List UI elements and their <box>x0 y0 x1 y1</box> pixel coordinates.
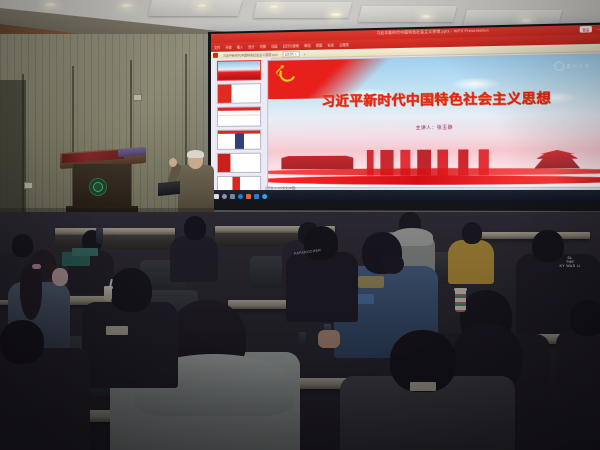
ribbon-item[interactable]: 审阅 <box>304 43 311 48</box>
podium-emblem-icon <box>89 178 107 196</box>
hair-tie <box>32 264 41 269</box>
paper-sheet[interactable] <box>410 382 436 391</box>
person-torso <box>82 302 178 388</box>
red-ribbon-band <box>267 175 600 185</box>
slide-thumbnail[interactable]: 6 <box>217 176 261 190</box>
person-head <box>570 300 600 336</box>
person-torso <box>448 240 494 284</box>
slide-thumbnail[interactable]: 5 <box>217 153 261 173</box>
lecturer-hand <box>169 158 177 167</box>
apparel-text-hoodie: SL THE KY WAS LI <box>540 256 600 268</box>
ponytail <box>20 264 42 320</box>
ceiling-light-icon <box>268 4 280 9</box>
slide-thumbnail[interactable]: 2 <box>217 83 261 104</box>
ribbon-item[interactable]: 视图 <box>316 42 323 47</box>
ceiling-light-icon <box>44 2 57 7</box>
water-bottle[interactable] <box>299 332 306 348</box>
chat-icon[interactable] <box>262 194 267 199</box>
lecturer-laptop <box>158 181 180 196</box>
slide-title: 习近平新时代中国特色社会主义思想 <box>268 86 600 110</box>
ribbon-item[interactable]: 插入 <box>237 44 243 49</box>
desk <box>55 228 175 235</box>
wall-outlet <box>24 182 33 189</box>
computer-display: 习近平新时代中国特色社会主义思想.pptx - WPS Presentation… <box>211 24 600 202</box>
slide-thumbnail[interactable]: 4 <box>217 130 261 150</box>
ceiling-light-icon <box>196 3 208 8</box>
hair-bun <box>382 254 404 274</box>
person-head <box>184 216 206 240</box>
ribbon-item[interactable]: 幻灯片放映 <box>283 43 299 48</box>
jacket-patch <box>358 276 384 288</box>
ceiling-light-icon <box>520 18 532 23</box>
window-title: 习近平新时代中国特色社会主义思想.pptx - WPS Presentation <box>376 28 488 36</box>
slide-thumbnail-pane[interactable]: 1 2 3 4 5 <box>211 58 272 190</box>
person-head <box>52 268 68 286</box>
person-torso <box>170 236 218 282</box>
projection-screen: 习近平新时代中国特色社会主义思想.pptx - WPS Presentation… <box>208 22 600 211</box>
ribbon-item[interactable]: 设计 <box>248 44 254 49</box>
task-view-icon[interactable] <box>230 194 235 199</box>
water-bottle[interactable] <box>96 228 103 244</box>
red-ribbon-band <box>267 167 600 175</box>
ribbon-item[interactable]: 安全 <box>327 42 334 47</box>
notebook[interactable] <box>72 248 98 256</box>
ceiling-light-icon <box>330 12 342 17</box>
paper-sheet[interactable] <box>106 326 128 335</box>
ribbon-item[interactable]: 切换 <box>260 44 266 49</box>
wall-outlet <box>133 94 142 101</box>
minimize-icon[interactable]: — <box>597 27 600 31</box>
ceiling-light-icon <box>420 14 432 19</box>
desk-side <box>55 235 175 249</box>
university-logo: 贵州大学 <box>554 61 591 71</box>
person-head <box>12 234 33 257</box>
ribbon-item[interactable]: 动画 <box>271 43 277 48</box>
start-icon[interactable] <box>214 194 219 199</box>
lecture-hall-photo: 习近平新时代中国特色社会主义思想.pptx - WPS Presentation… <box>0 0 600 450</box>
ribbon-item[interactable]: 云服务 <box>339 42 349 47</box>
windows-taskbar[interactable]: 15:04 2023/11/21 <box>211 190 600 203</box>
window-controls[interactable]: 登录 — □ ✕ <box>580 25 600 32</box>
ceiling-light-icon <box>120 3 133 8</box>
ribbon-item[interactable]: 开始 <box>225 44 231 49</box>
document-tab[interactable]: 习近平新时代中国特色社会主义思想.pptx <box>223 52 278 57</box>
ribbon-item[interactable]: 文件 <box>214 45 220 50</box>
person-hand <box>318 330 340 348</box>
drink-cup[interactable] <box>104 288 112 301</box>
person-torso <box>286 252 358 322</box>
lecturer-torso <box>178 165 214 213</box>
desk <box>470 232 590 239</box>
active-slide[interactable]: 贵州大学 习近平新时代中国特色社会主义思想 主讲人：张玉静 <box>267 53 600 188</box>
slide-tab-active[interactable]: 幻灯片 1 <box>282 51 300 57</box>
university-name: 贵州大学 <box>566 63 590 70</box>
new-tab-button[interactable]: + <box>304 51 306 55</box>
wps-logo-icon <box>213 53 218 58</box>
search-icon[interactable] <box>222 194 227 199</box>
person-head <box>304 226 338 260</box>
person-head <box>110 268 152 312</box>
slide-thumbnail[interactable]: 1 <box>217 60 261 81</box>
wps-taskbar-icon[interactable] <box>246 194 251 199</box>
slide-thumbnail[interactable]: 3 <box>217 106 261 127</box>
hoodie-line-3: KY WAS LI <box>559 264 580 268</box>
edge-browser-icon[interactable] <box>238 194 243 199</box>
cup-lid <box>454 288 467 291</box>
person-torso <box>556 330 600 440</box>
drink-cup[interactable] <box>455 290 466 312</box>
folder-icon[interactable] <box>254 194 259 199</box>
person-head <box>0 320 44 364</box>
person-head <box>462 222 482 244</box>
lecturer-hair <box>187 150 204 158</box>
cup-lid <box>104 286 113 289</box>
university-seal-icon <box>554 61 564 71</box>
login-button[interactable]: 登录 <box>580 26 593 33</box>
